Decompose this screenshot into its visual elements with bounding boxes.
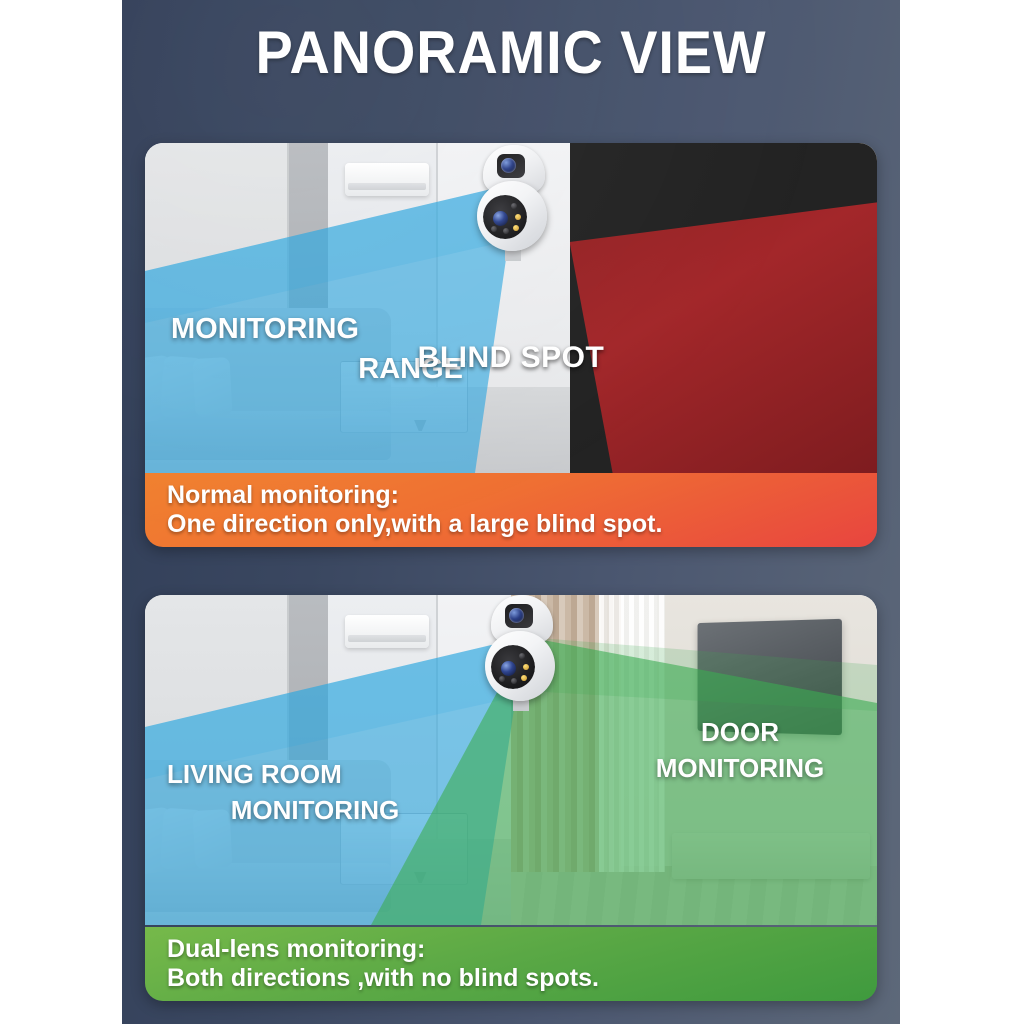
- page-title: PANORAMIC VIEW: [149, 18, 873, 87]
- blind-spot-region: [570, 143, 877, 473]
- ir-led-icon: [511, 678, 517, 684]
- camera-lower-ball: [485, 631, 555, 701]
- camera-main-lens-icon: [501, 661, 516, 676]
- panel-normal-monitoring: MONITORING RANGE BLIND SPOT: [145, 143, 877, 547]
- table-leg: [414, 872, 427, 883]
- infographic-stage: PANORAMIC VIEW: [0, 0, 1024, 1024]
- caption-dual-lens-monitoring: Dual-lens monitoring: Both directions ,w…: [145, 927, 877, 1001]
- table-leg: [414, 420, 427, 431]
- dual-lens-security-camera-icon: [475, 143, 553, 253]
- caption-line-1: Dual-lens monitoring:: [167, 935, 877, 964]
- scene-normal: MONITORING RANGE BLIND SPOT: [145, 143, 877, 547]
- ir-led-icon: [523, 664, 529, 670]
- photo-dual: LIVING ROOM MONITORING DOOR MONITORING: [145, 595, 877, 925]
- caption-line-2: Both directions ,with no blind spots.: [167, 964, 877, 993]
- camera-upper-lens-icon: [505, 604, 533, 628]
- ir-led-icon: [491, 226, 497, 232]
- tv-console: [672, 833, 870, 879]
- label-blind-spot: BLIND SPOT: [145, 341, 877, 375]
- caption-normal-monitoring: Normal monitoring: One direction only,wi…: [145, 473, 877, 547]
- blind-spot-wedge: [570, 143, 877, 473]
- camera-lens-face: [491, 645, 535, 689]
- ir-led-icon: [513, 225, 519, 231]
- label-door-monitoring: DOOR MONITORING: [615, 715, 865, 787]
- ir-led-icon: [515, 214, 521, 220]
- ir-led-icon: [503, 228, 509, 234]
- air-conditioner-icon: [345, 615, 430, 648]
- main-card: PANORAMIC VIEW: [122, 0, 900, 1024]
- camera-lower-ball: [477, 181, 547, 251]
- panel-dual-lens-monitoring: LIVING ROOM MONITORING DOOR MONITORING: [145, 595, 877, 1001]
- label-living-room-monitoring: LIVING ROOM MONITORING: [167, 757, 463, 829]
- dual-lens-security-camera-icon: [483, 595, 561, 703]
- caption-line-2: One direction only,with a large blind sp…: [167, 510, 877, 539]
- scene-dual: LIVING ROOM MONITORING DOOR MONITORING: [145, 595, 877, 1001]
- ir-led-icon: [519, 653, 525, 659]
- ir-led-icon: [521, 675, 527, 681]
- ir-led-icon: [499, 676, 505, 682]
- air-conditioner-icon: [345, 163, 430, 196]
- camera-main-lens-icon: [493, 211, 508, 226]
- camera-lens-face: [483, 195, 527, 239]
- caption-line-1: Normal monitoring:: [167, 481, 877, 510]
- ir-led-icon: [511, 203, 517, 209]
- photo-normal: MONITORING RANGE BLIND SPOT: [145, 143, 877, 473]
- camera-upper-lens-icon: [497, 154, 525, 178]
